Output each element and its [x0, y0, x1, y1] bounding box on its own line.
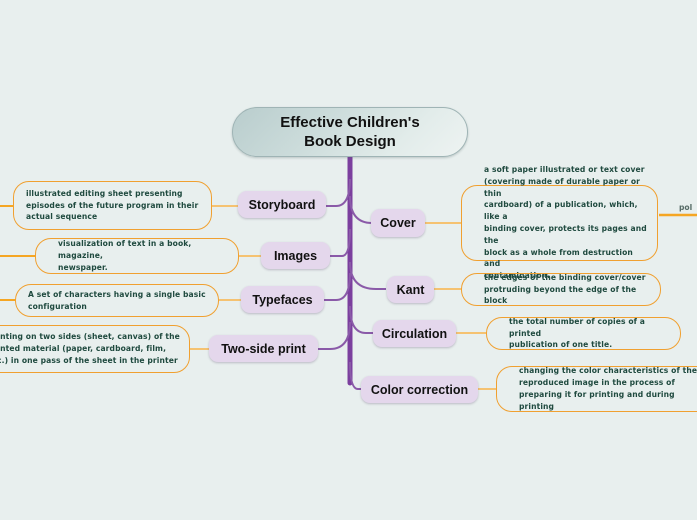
topic-node-color-correction[interactable]: Color correction	[361, 376, 478, 403]
note-text-cover: a soft paper illustrated or text cover (…	[462, 164, 657, 282]
root-node[interactable]: Effective Children's Book Design	[232, 107, 468, 157]
topic-node-storyboard[interactable]: Storyboard	[238, 191, 326, 218]
note-text-storyboard: illustrated editing sheet presenting epi…	[14, 188, 211, 223]
branch-storyboard	[326, 179, 350, 206]
topic-node-kant[interactable]: Kant	[387, 276, 434, 303]
note-color-correction: changing the color characteristics of th…	[496, 366, 697, 412]
topic-node-typefaces[interactable]: Typefaces	[241, 286, 324, 313]
note-circulation: the total number of copies of a printed …	[486, 317, 681, 350]
note-text-circulation: the total number of copies of a printed …	[487, 316, 680, 351]
topic-label-color-correction: Color correction	[371, 383, 468, 397]
branch-kant	[350, 262, 386, 289]
branch-two-side-print	[318, 322, 350, 349]
note-kant: the edges of the binding cover/cover pro…	[461, 273, 661, 306]
note-text-typefaces: A set of characters having a single basi…	[16, 289, 218, 313]
topic-label-cover: Cover	[380, 216, 415, 230]
note-text-images: visualization of text in a book, magazin…	[36, 238, 238, 273]
topic-label-circulation: Circulation	[382, 327, 447, 341]
note-two-side-print: printing on two sides (sheet, canvas) of…	[0, 325, 190, 373]
topic-node-circulation[interactable]: Circulation	[373, 320, 456, 347]
topic-label-storyboard: Storyboard	[249, 198, 316, 212]
topic-label-kant: Kant	[397, 283, 425, 297]
branch-typefaces	[324, 273, 350, 300]
clipped-topic-label-right[interactable]: pol	[679, 203, 692, 212]
note-text-color-correction: changing the color characteristics of th…	[497, 365, 697, 412]
note-text-kant: the edges of the binding cover/cover pro…	[462, 272, 660, 307]
root-node-label: Effective Children's Book Design	[280, 113, 419, 151]
topic-node-images[interactable]: Images	[261, 242, 330, 269]
note-images: visualization of text in a book, magazin…	[35, 238, 239, 274]
topic-node-cover[interactable]: Cover	[371, 209, 425, 237]
topic-label-typefaces: Typefaces	[252, 293, 312, 307]
note-storyboard: illustrated editing sheet presenting epi…	[13, 181, 212, 230]
mindmap-canvas: Effective Children's Book Design Storybo…	[0, 0, 697, 520]
branch-images	[330, 229, 350, 256]
topic-node-two-side-print[interactable]: Two-side print	[209, 335, 318, 362]
note-text-two-side-print: printing on two sides (sheet, canvas) of…	[0, 331, 189, 366]
topic-label-two-side-print: Two-side print	[221, 342, 306, 356]
note-cover: a soft paper illustrated or text cover (…	[461, 185, 658, 261]
note-typefaces: A set of characters having a single basi…	[15, 284, 219, 317]
topic-label-images: Images	[274, 249, 317, 263]
